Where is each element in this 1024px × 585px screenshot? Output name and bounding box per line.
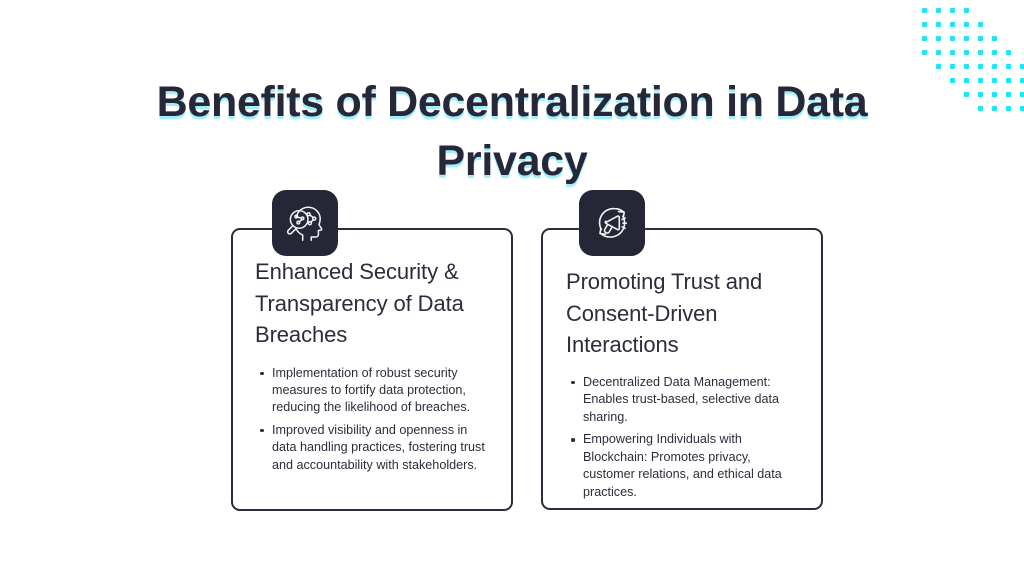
decorative-dot [922,22,927,27]
decorative-dot [936,36,941,41]
decorative-dot [922,50,927,55]
decorative-dot [978,64,983,69]
decorative-dot [992,92,997,97]
decorative-dot [964,50,969,55]
decorative-dot [978,36,983,41]
decorative-dot [978,92,983,97]
benefit-card-1-body: Enhanced Security & Transparency of Data… [255,256,493,474]
decorative-dot [950,36,955,41]
decorative-dot [978,106,983,111]
decorative-dot [992,78,997,83]
decorative-dot [992,36,997,41]
benefit-card-1-heading: Enhanced Security & Transparency of Data… [255,256,493,351]
decorative-dot [950,78,955,83]
decorative-dot [1020,64,1024,69]
decorative-dot [978,78,983,83]
decorative-dot [964,78,969,83]
decorative-dot [978,22,983,27]
head-magnifier-icon-glyph [281,199,329,247]
benefit-card-2-bullet-list: Decentralized Data Management: Enables t… [566,374,804,502]
page-title: Benefits of Decentralization in Data Pri… [96,73,928,191]
decorative-dot [992,50,997,55]
decorative-dot [1020,92,1024,97]
decorative-dot [936,50,941,55]
megaphone-refresh-icon-glyph [588,199,636,247]
decorative-dot [992,106,997,111]
decorative-dot [964,36,969,41]
head-magnifier-icon [272,190,338,256]
decorative-dot [964,8,969,13]
decorative-dot [1006,64,1011,69]
benefit-card-1-bullet-2: Improved visibility and openness in data… [272,422,493,474]
decorative-dot [950,50,955,55]
decorative-dot [1006,92,1011,97]
decorative-dot [1006,106,1011,111]
benefit-card-1-bullet-list: Implementation of robust security measur… [255,365,493,474]
decorative-dot [936,64,941,69]
benefit-card-2-body: Promoting Trust and Consent-Driven Inter… [566,266,804,502]
benefit-card-1-bullet-1: Implementation of robust security measur… [272,365,493,417]
decorative-dot [1006,50,1011,55]
decorative-dot [922,36,927,41]
decorative-dot [936,8,941,13]
decorative-dot [1020,78,1024,83]
megaphone-refresh-icon [579,190,645,256]
decorative-dot [992,64,997,69]
decorative-dot [1006,78,1011,83]
benefit-card-2-bullet-1: Decentralized Data Management: Enables t… [583,374,804,427]
decorative-dot [936,22,941,27]
benefit-card-2-bullet-2: Empowering Individuals with Blockchain: … [583,431,804,501]
decorative-dot [964,92,969,97]
benefit-card-2-heading: Promoting Trust and Consent-Driven Inter… [566,266,804,361]
decorative-dot [922,8,927,13]
decorative-dot [1020,106,1024,111]
decorative-dot [978,50,983,55]
decorative-dot [950,22,955,27]
decorative-dot [964,22,969,27]
decorative-dot [950,8,955,13]
decorative-dot [950,64,955,69]
decorative-dot [964,64,969,69]
